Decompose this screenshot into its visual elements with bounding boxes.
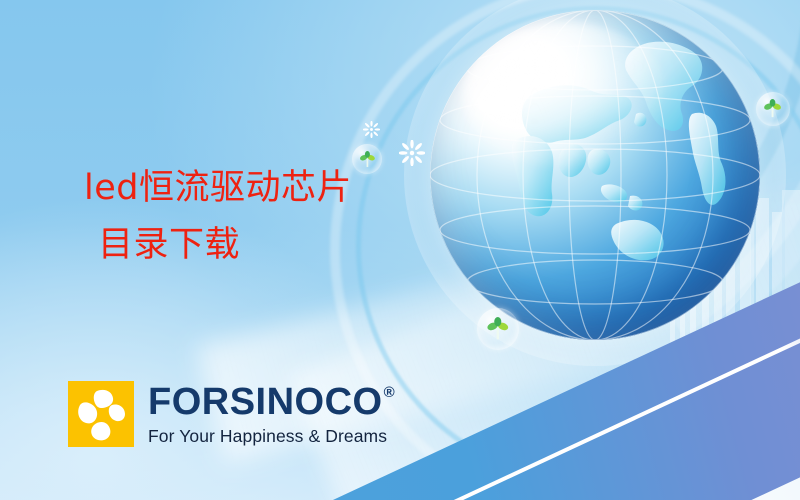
- pinwheel-petals-icon: [68, 381, 134, 447]
- bubble-with-sprout-right: [756, 92, 790, 126]
- promo-banner: led恒流驱动芯片 目录下载 FORSINOCO ® For Your Happ…: [0, 0, 800, 500]
- bubble-with-sprout-left: [352, 144, 382, 174]
- earth-globe: [430, 10, 760, 340]
- globe-sphere: [430, 10, 760, 340]
- headline-line-1: led恒流驱动芯片: [84, 168, 352, 208]
- bubble-with-sprout-center: [477, 308, 519, 350]
- brand-tagline: For Your Happiness & Dreams: [148, 426, 395, 447]
- headline-line-2: 目录下载: [98, 217, 352, 274]
- brand-name: FORSINOCO: [148, 383, 383, 421]
- green-sprout-icon: [763, 99, 782, 118]
- logo-text-block: FORSINOCO ® For Your Happiness & Dreams: [148, 381, 395, 447]
- starburst-flower-large-icon: [399, 140, 425, 166]
- forsinoco-pinwheel-mark-icon: [68, 381, 134, 447]
- headline-text: led恒流驱动芯片 目录下载: [84, 160, 352, 273]
- registered-trademark-symbol: ®: [384, 385, 395, 400]
- starburst-flower-small-icon: [363, 121, 380, 138]
- green-sprout-icon: [486, 317, 510, 341]
- globe-specular-highlight: [463, 23, 668, 168]
- company-logo[interactable]: FORSINOCO ® For Your Happiness & Dreams: [68, 381, 395, 447]
- green-sprout-icon: [359, 151, 376, 168]
- brand-name-row: FORSINOCO ®: [148, 383, 395, 421]
